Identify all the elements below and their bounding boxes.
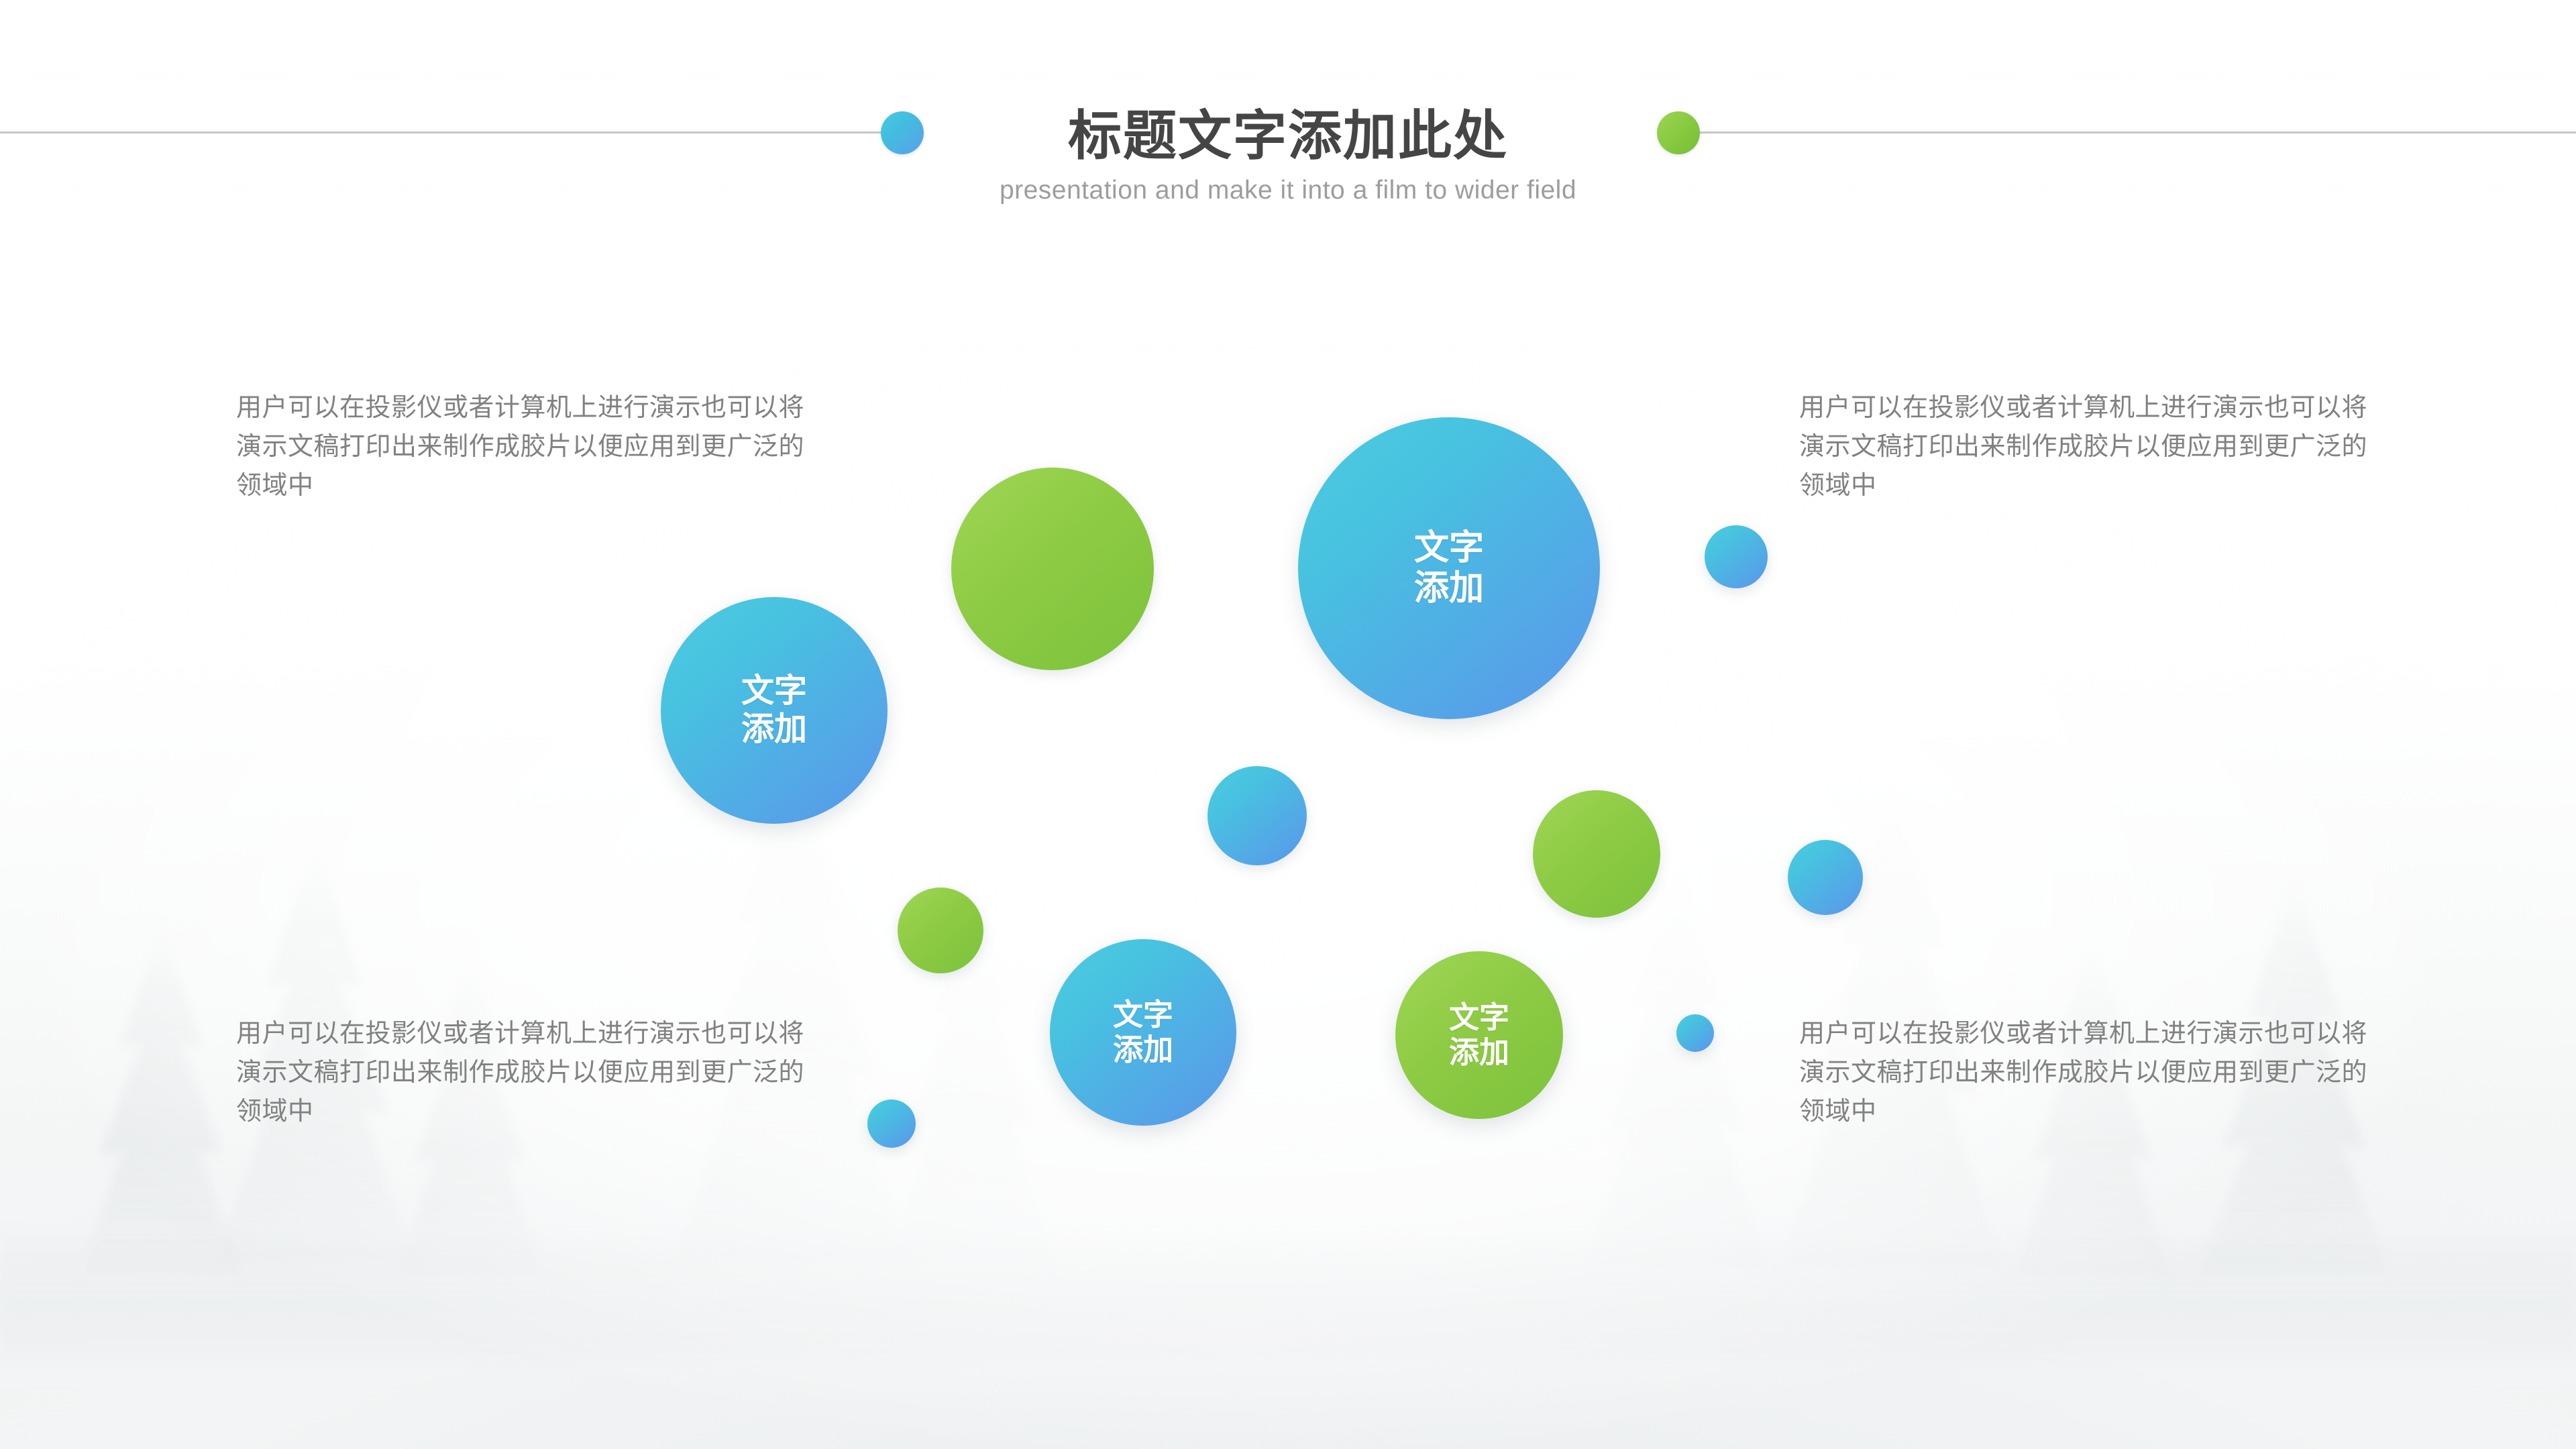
bubble-left-line2: 添加 — [741, 710, 807, 749]
paragraph-top-right: 用户可以在投影仪或者计算机上进行演示也可以将演示文稿打印出来制作成胶片以便应用到… — [1799, 389, 2376, 505]
accent-bubble-green-large[interactable] — [951, 468, 1154, 670]
bubble-left[interactable]: 文字 添加 — [661, 597, 888, 824]
bubble-bottom-blue[interactable]: 文字 添加 — [1050, 939, 1236, 1126]
bubble-bottom-green-line2: 添加 — [1449, 1035, 1509, 1070]
bubble-top-line1: 文字 — [1414, 528, 1484, 568]
accent-bubble-green-mid[interactable] — [1533, 790, 1660, 918]
slide-canvas: 标题文字添加此处 presentation and make it into a… — [0, 0, 2576, 1449]
accent-bubble-green-small[interactable] — [898, 888, 983, 973]
bubble-top[interactable]: 文字 添加 — [1298, 417, 1600, 719]
accent-bubble-blue-mid[interactable] — [1207, 766, 1307, 865]
bubble-bottom-green-line1: 文字 — [1449, 1000, 1509, 1035]
background-fog — [0, 0, 2576, 1449]
bubble-bottom-green[interactable]: 文字 添加 — [1395, 951, 1563, 1119]
page-subtitle: presentation and make it into a film to … — [0, 176, 2576, 205]
forest-watermark-icon — [0, 0, 2576, 1449]
bubble-top-line2: 添加 — [1414, 568, 1484, 608]
page-title: 标题文字添加此处 — [0, 93, 2576, 170]
paragraph-bottom-left: 用户可以在投影仪或者计算机上进行演示也可以将演示文稿打印出来制作成胶片以便应用到… — [236, 1015, 813, 1131]
accent-bubble-blue-tiny-right[interactable] — [1676, 1014, 1714, 1052]
bubble-bottom-blue-line2: 添加 — [1113, 1032, 1173, 1067]
accent-bubble-blue-upper-right[interactable] — [1705, 525, 1768, 588]
accent-bubble-blue-right[interactable] — [1788, 840, 1863, 915]
paragraph-top-left: 用户可以在投影仪或者计算机上进行演示也可以将演示文稿打印出来制作成胶片以便应用到… — [236, 389, 813, 505]
accent-bubble-blue-tiny-left[interactable] — [867, 1099, 916, 1148]
bubble-bottom-blue-line1: 文字 — [1113, 998, 1173, 1032]
bubble-left-line1: 文字 — [741, 672, 807, 710]
background-wash — [0, 0, 2576, 1449]
paragraph-bottom-right: 用户可以在投影仪或者计算机上进行演示也可以将演示文稿打印出来制作成胶片以便应用到… — [1799, 1015, 2376, 1131]
